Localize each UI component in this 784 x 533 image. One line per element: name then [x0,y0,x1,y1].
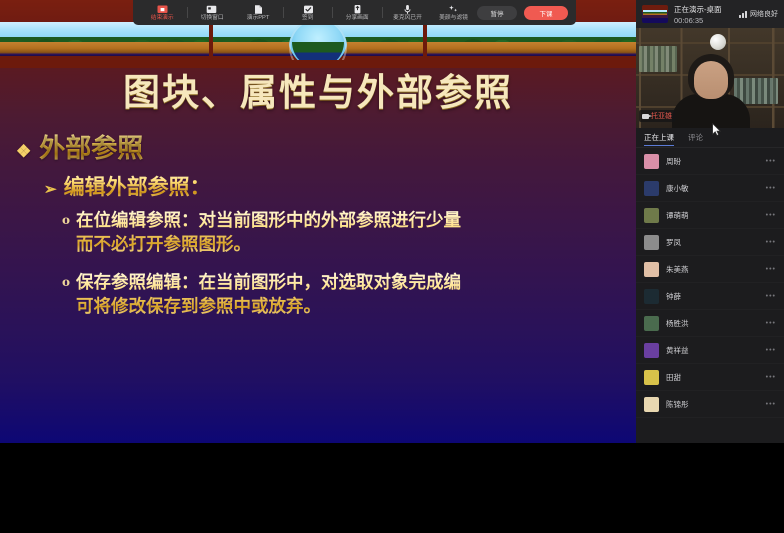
toolbar-label: 演示PPT [247,16,270,22]
banner-soil [427,42,636,56]
toolbar-button-checkin[interactable]: 签到 [285,4,332,21]
toolbar-button-beauty-filter[interactable]: 美颜与滤镜 [430,4,477,21]
participant-list[interactable]: 周昐 ••• 康小敏 ••• 谭萌萌 ••• 罗凤 ••• 朱美燕 •• [636,148,784,443]
bullet-marker-arrow-icon: ➢ [44,180,57,198]
person-body [672,94,750,128]
panel-tabs[interactable]: 正在上课 评论 [636,128,784,148]
mouse-cursor [712,123,721,136]
list-item[interactable]: 田甜 ••• [636,364,784,391]
slide-title: 图块、属性与外部参照 [0,62,636,116]
avatar [644,154,659,169]
slide-thumbnail[interactable] [642,5,668,23]
more-options-icon[interactable]: ••• [766,401,776,408]
globe-decor [710,34,726,50]
list-item[interactable]: 罗凤 ••• [636,229,784,256]
toolbar-button-switch-window[interactable]: 切换窗口 [189,4,236,21]
end-class-button[interactable]: 下课 [524,6,568,20]
avatar [644,397,659,412]
list-item[interactable]: 周昐 ••• [636,148,784,175]
more-options-icon[interactable]: ••• [766,266,776,273]
bullet-level3: o 在位编辑参照：对当前图形中的外部参照进行少量 而不必打开参照图形。 [62,209,636,257]
participant-name: 陈锦彤 [666,399,689,410]
status-texts: 正在演示-桌面 00:06:35 [674,4,722,25]
participant-name: 钟薛 [666,291,681,302]
shared-slide: 图块、属性与外部参照 ❖ 外部参照 ➢ 编辑外部参照： o 在位编辑参照：对当前… [0,0,636,443]
slide-body: ❖ 外部参照 ➢ 编辑外部参照： o 在位编辑参照：对当前图形中的外部参照进行少… [0,128,636,328]
toolbar-label: 分享画面 [346,16,369,22]
toolbar-label: 美颜与滤镜 [439,16,468,22]
books-decor [639,46,677,72]
list-item[interactable]: 康小敏 ••• [636,175,784,202]
toolbar-button-share-screen[interactable]: 分享画面 [334,4,381,21]
network-label: 网络良好 [750,9,778,19]
toolbar-button-present-ppt[interactable]: 演示PPT [235,4,282,21]
avatar [644,235,659,250]
pause-button[interactable]: 暂停 [477,6,517,20]
more-options-icon[interactable]: ••• [766,320,776,327]
more-options-icon[interactable]: ••• [766,185,776,192]
toolbar-label: 切换窗口 [200,16,223,22]
class-panel: 正在演示-桌面 00:06:35 网络良好 托亚雄 正在上课 评论 [636,0,784,443]
participant-name: 黄祥益 [666,345,689,356]
participant-name: 朱美燕 [666,264,689,275]
list-item[interactable]: 谭萌萌 ••• [636,202,784,229]
more-options-icon[interactable]: ••• [766,347,776,354]
video-name-label: 托亚雄 [651,111,672,121]
bullet-level2-text: 编辑外部参照： [64,171,211,201]
presentation-status-bar: 正在演示-桌面 00:06:35 网络良好 [636,0,784,28]
network-status: 网络良好 [739,9,778,19]
tab-comments[interactable]: 评论 [688,128,703,147]
list-item[interactable]: 朱美燕 ••• [636,256,784,283]
more-options-icon[interactable]: ••• [766,239,776,246]
toolbar-button-end-presentation[interactable]: 结束演示 [139,4,186,21]
participant-name: 谭萌萌 [666,210,689,221]
screen-share-window: 图块、属性与外部参照 ❖ 外部参照 ➢ 编辑外部参照： o 在位编辑参照：对当前… [0,0,784,533]
participant-name: 罗凤 [666,237,681,248]
bullet-level3-line1: 保存参照编辑：在当前图形中，对选取对象完成编 [76,271,461,295]
toolbar-button-microphone[interactable]: 麦克风已开 [384,4,431,21]
participant-name: 周昐 [666,156,681,167]
person-face [694,61,728,99]
more-options-icon[interactable]: ••• [766,374,776,381]
banner-panel-left [0,22,209,60]
signal-bars-icon [739,10,747,18]
presentation-toolbar[interactable]: 结束演示 切换窗口 演示PPT 签到 分享画 [133,0,576,25]
toolbar-label: 签到 [302,16,314,22]
bullet-level2: ➢ 编辑外部参照： [44,171,636,201]
toolbar-divider [283,7,284,18]
bullet-level3-line2: 可将修改保存到参照中或放弃。 [76,295,461,319]
session-timer: 00:06:35 [674,16,722,25]
avatar [644,181,659,196]
avatar [644,316,659,331]
banner-magnifier-dip [292,42,344,60]
toolbar-label: 结束演示 [151,16,174,22]
toolbar-label: 麦克风已开 [393,16,422,22]
bullet-level3-line2: 而不必打开参照图形。 [76,233,461,257]
avatar [644,262,659,277]
participant-name: 田甜 [666,372,681,383]
more-options-icon[interactable]: ••• [766,293,776,300]
banner-soil [0,42,209,56]
tab-in-class[interactable]: 正在上课 [644,128,674,147]
more-options-icon[interactable]: ••• [766,158,776,165]
bullet-level1-text: 外部参照 [39,128,143,165]
bullet-marker-diamond-icon: ❖ [16,142,31,162]
list-item[interactable]: 陈锦彤 ••• [636,391,784,418]
avatar [644,208,659,223]
bullet-level3: o 保存参照编辑：在当前图形中，对选取对象完成编 可将修改保存到参照中或放弃。 [62,271,636,319]
list-item[interactable]: 钟薛 ••• [636,283,784,310]
presenting-status: 正在演示-桌面 [674,4,722,15]
list-item[interactable]: 杨胜洪 ••• [636,310,784,337]
camera-icon [642,114,649,119]
avatar [644,289,659,304]
participant-name: 康小敏 [666,183,689,194]
bullet-level3-line1: 在位编辑参照：对当前图形中的外部参照进行少量 [76,209,461,233]
toolbar-divider [332,7,333,18]
participant-name: 杨胜洪 [666,318,689,329]
list-item[interactable]: 黄祥益 ••• [636,337,784,364]
more-options-icon[interactable]: ••• [766,212,776,219]
toolbar-divider [382,7,383,18]
banner-panel-center [213,22,422,60]
bullet-marker-circle-icon: o [62,274,70,291]
avatar [644,343,659,358]
avatar [644,370,659,385]
bullet-marker-circle-icon: o [62,212,70,229]
banner-panel-right [427,22,636,60]
toolbar-divider [187,7,188,18]
teacher-video-feed[interactable]: 托亚雄 [636,28,784,128]
video-name-badge: 托亚雄 [639,110,675,122]
bullet-level1: ❖ 外部参照 [16,128,636,165]
toolbar-actions: 暂停 下课 [477,6,570,20]
